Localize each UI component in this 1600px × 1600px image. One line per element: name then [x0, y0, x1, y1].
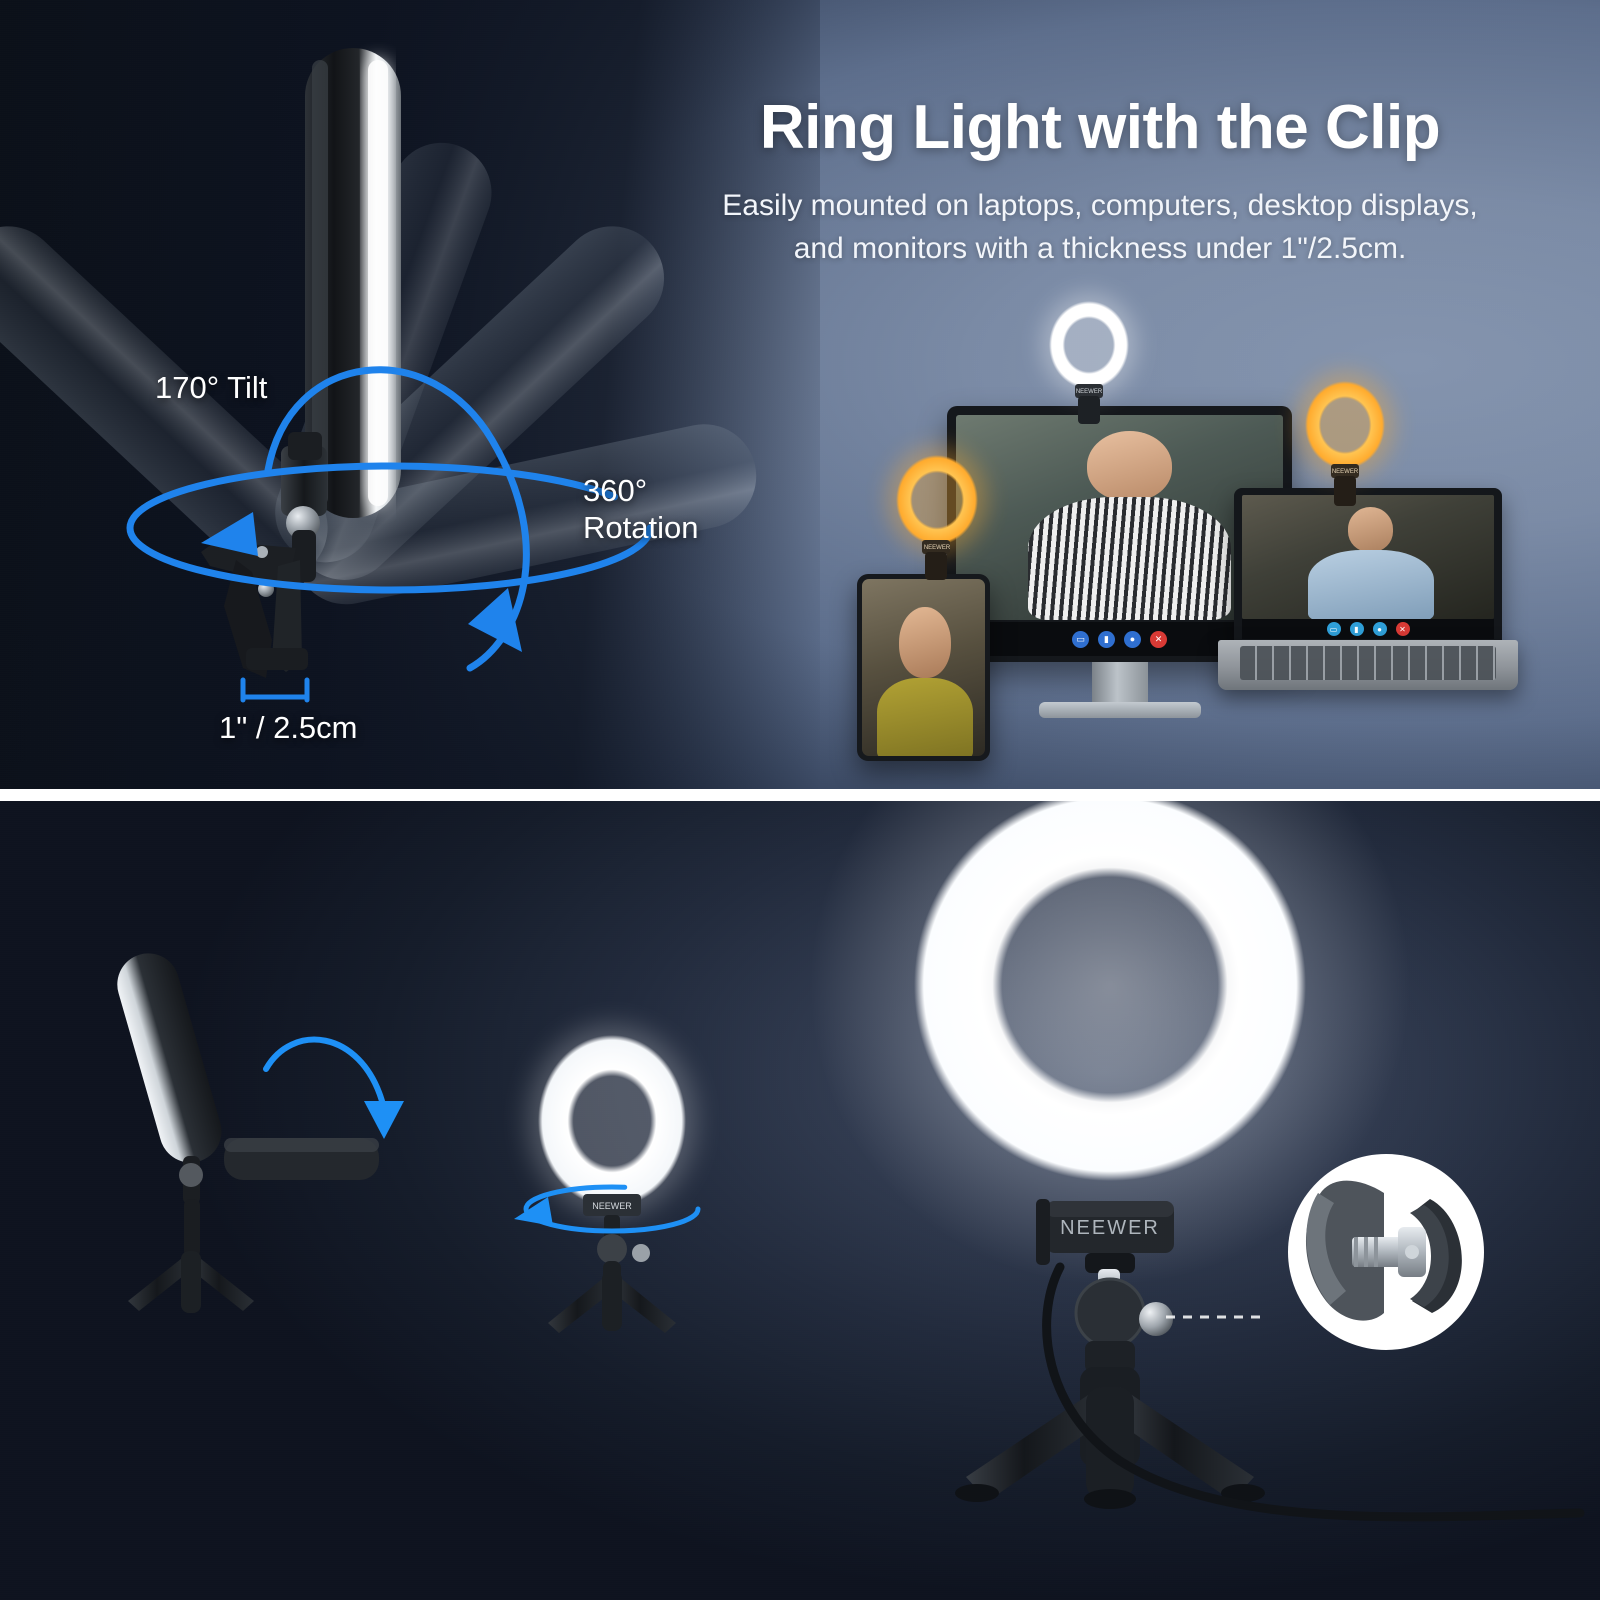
subtitle-line-2: and monitors with a thickness under 1"/2…: [660, 228, 1540, 271]
top-panel-clip: 170° Tilt 360° Rotation 1" / 2.5cm Ring …: [0, 0, 1600, 789]
participant-icon[interactable]: ●: [1124, 631, 1141, 648]
inset-tilt-diagram: [110, 946, 404, 1313]
video-camera-icon[interactable]: ▭: [1327, 622, 1341, 636]
panel-divider: [0, 789, 1600, 801]
label-tilt-170: 170° Tilt: [155, 370, 267, 407]
video-subject-man-glasses: [1242, 495, 1494, 619]
rotation-360-line1: 360°: [583, 473, 698, 510]
infographic-stage: 170° Tilt 360° Rotation 1" / 2.5cm Ring …: [0, 0, 1600, 1600]
tablet-screen: [862, 579, 985, 756]
tablet-mockup: [857, 574, 990, 761]
tripod-assembly: [955, 1253, 1580, 1517]
ring-light-laptop: NEEWER: [1296, 372, 1394, 506]
label-thickness: 1" / 2.5cm: [219, 710, 358, 747]
svg-text:NEEWER: NEEWER: [1332, 469, 1359, 475]
bottom-panel-tripod: Mounted on the Tripod: [0, 801, 1600, 1600]
inset-diagrams: NEEWER: [0, 801, 1600, 1600]
video-call-controls-laptop: ▭ ▮ ● ✕: [1242, 619, 1494, 639]
end-call-icon[interactable]: ✕: [1150, 631, 1167, 648]
laptop-chin: ▭ ▮ ● ✕: [1242, 619, 1494, 639]
laptop-keyboard: [1240, 646, 1496, 680]
monitor-stand-neck: [1092, 662, 1148, 706]
signal-bars-icon[interactable]: ▮: [1350, 622, 1364, 636]
svg-text:NEEWER: NEEWER: [1076, 389, 1103, 395]
participant-icon[interactable]: ●: [1373, 622, 1387, 636]
texture-overlay-bottom: [0, 801, 1600, 1600]
video-camera-icon[interactable]: ▭: [1072, 631, 1089, 648]
laptop-mockup: ▭ ▮ ● ✕: [1218, 488, 1518, 698]
inset-rotation-diagram: NEEWER: [514, 1025, 698, 1333]
light-head-bracket: NEEWER: [1036, 1199, 1174, 1265]
page-title: Ring Light with the Clip: [700, 95, 1500, 160]
page-subtitle: Easily mounted on laptops, computers, de…: [660, 185, 1540, 270]
video-subject-woman-curly: [862, 579, 985, 756]
left-vignette: [0, 0, 820, 789]
main-tripod-ring-light: NEEWER: [0, 801, 1600, 1600]
subtitle-line-1: Easily mounted on laptops, computers, de…: [660, 185, 1540, 228]
laptop-screen: [1242, 495, 1494, 619]
screw-thread-detail-circle: [1288, 1154, 1484, 1350]
label-rotation-360: 360° Rotation: [583, 473, 698, 546]
end-call-icon[interactable]: ✕: [1396, 622, 1410, 636]
signal-bars-icon[interactable]: ▮: [1098, 631, 1115, 648]
ring-light-monitor: NEEWER: [1041, 293, 1137, 424]
rotation-360-line2: Rotation: [583, 510, 698, 547]
svg-text:NEEWER: NEEWER: [592, 1201, 632, 1211]
monitor-stand-base: [1039, 702, 1201, 718]
svg-text:NEEWER: NEEWER: [1060, 1217, 1160, 1239]
